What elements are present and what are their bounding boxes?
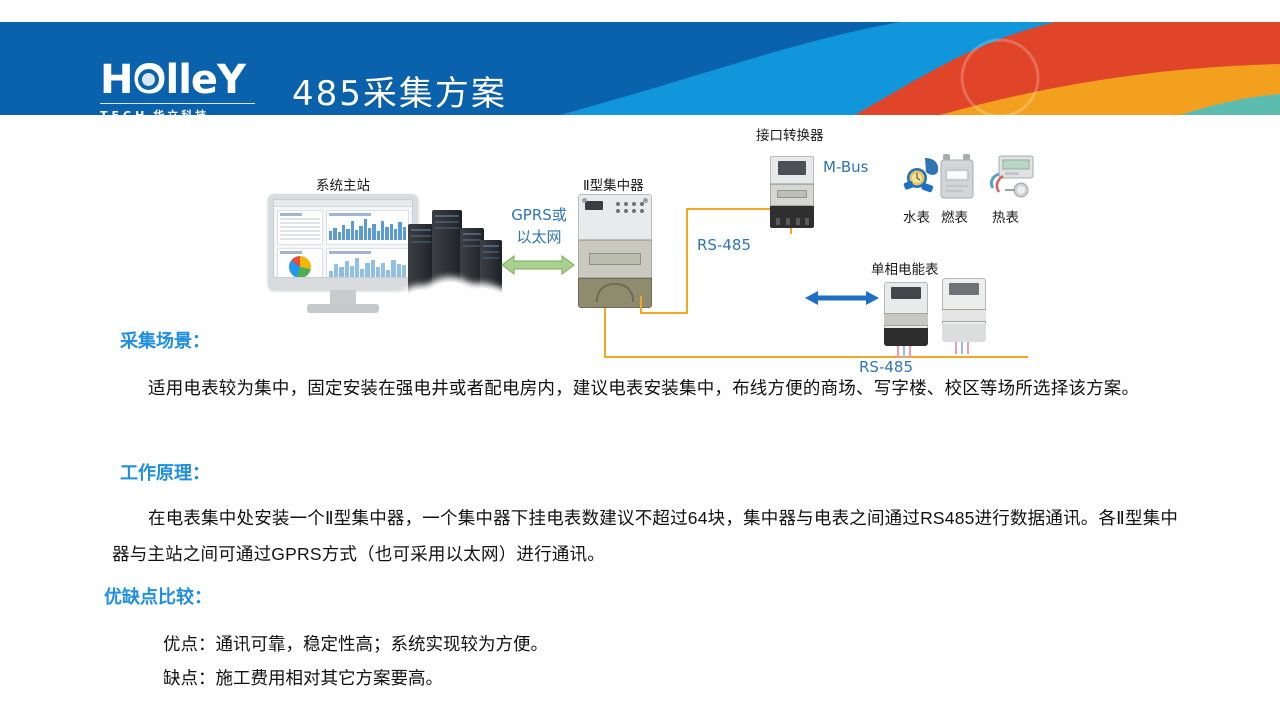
label-water-meter: 水表 bbox=[903, 206, 930, 226]
link-label-gprs: GPRS或 以太网 bbox=[504, 204, 574, 248]
section-heading-proscons: 优缺点比较： bbox=[104, 583, 212, 609]
logo-sub-cn: 华立科技 bbox=[153, 107, 209, 115]
link-label-rs485-upper: RS-485 bbox=[697, 236, 751, 254]
converter-lcd bbox=[777, 190, 807, 198]
label-gas-meter: 燃表 bbox=[941, 206, 968, 226]
gprs-line-1: GPRS或 bbox=[511, 206, 567, 224]
master-station-monitor:  bbox=[268, 194, 418, 316]
wire-segment bbox=[640, 312, 688, 314]
meter-label-band bbox=[884, 313, 928, 326]
heat-meter-icon bbox=[985, 152, 1037, 202]
screen-titlebar bbox=[274, 200, 412, 207]
meter-label-band bbox=[942, 309, 986, 322]
gprs-double-arrow-icon bbox=[500, 252, 576, 278]
dashboard-card-bars-1 bbox=[326, 210, 409, 245]
label-heat-meter: 热表 bbox=[992, 206, 1019, 226]
pros-line: 优点：通讯可靠，稳定性高；系统实现较为方便。 bbox=[163, 628, 548, 660]
wire-segment bbox=[640, 296, 642, 314]
dashboard-card-pie bbox=[277, 248, 323, 278]
mini-table bbox=[280, 218, 320, 240]
screw-icon bbox=[643, 198, 648, 203]
logo-sub-en: TECH bbox=[100, 109, 148, 116]
converter-top-panel bbox=[770, 156, 814, 184]
concentrator-top-panel bbox=[578, 194, 652, 240]
label-concentrator: Ⅱ型集中器 bbox=[583, 174, 644, 194]
link-label-mbus: M-Bus bbox=[823, 158, 868, 176]
wire-segment bbox=[604, 308, 606, 358]
pie-chart bbox=[289, 256, 311, 278]
meter-wires bbox=[953, 342, 975, 354]
bar-chart-1 bbox=[329, 218, 406, 240]
apple-logo-icon:  bbox=[340, 268, 347, 276]
converter-display bbox=[778, 161, 806, 175]
card-header-bar bbox=[329, 251, 371, 254]
wire-segment bbox=[604, 356, 1028, 358]
card-header-bar bbox=[280, 251, 302, 254]
cons-line: 缺点：施工费用相对其它方案要高。 bbox=[163, 662, 443, 694]
monitor-bezel:  bbox=[268, 194, 418, 290]
concentrator-indicator-leds bbox=[616, 202, 645, 213]
gprs-line-2: 以太网 bbox=[516, 228, 561, 246]
meter-display bbox=[891, 287, 921, 299]
dashboard-card-table bbox=[277, 210, 323, 245]
meter-display bbox=[949, 283, 979, 295]
slide-root: HOlleY TECH 华立科技 485采集方案 系统主站 Ⅱ型集中器 接口转换… bbox=[0, 0, 1280, 720]
paragraph-text: 在电表集中处安装一个Ⅱ型集中器，一个集中器下挂电表数建议不超过64块，集中器与电… bbox=[112, 508, 1178, 564]
page-title: 485采集方案 bbox=[292, 66, 507, 115]
concentrator-display bbox=[585, 201, 603, 210]
monitor-screen:  bbox=[273, 199, 413, 278]
meter-body bbox=[884, 282, 928, 346]
mbus-double-arrow-icon bbox=[805, 290, 879, 306]
monitor-base bbox=[307, 304, 379, 313]
cloud-graphic bbox=[400, 276, 520, 316]
meter-terminal-cover bbox=[884, 328, 928, 346]
logo-wordmark: HOlleY bbox=[100, 60, 255, 100]
wire-segment bbox=[686, 208, 688, 312]
concentrator-meter-panel bbox=[578, 240, 652, 278]
label-interface-converter: 接口转换器 bbox=[756, 124, 824, 144]
label-single-phase-meter: 单相电能表 bbox=[871, 258, 939, 278]
company-logo: HOlleY TECH 华立科技 bbox=[100, 60, 255, 115]
meter-wires bbox=[895, 346, 917, 358]
section-heading-scenario: 采集场景： bbox=[120, 327, 210, 353]
paragraph-text: 适用电表较为集中，固定安装在强电井或者配电房内，建议电表安装集中，布线方便的商场… bbox=[148, 378, 1139, 398]
logo-ring-icon bbox=[135, 66, 162, 93]
label-master-station: 系统主站 bbox=[316, 174, 370, 194]
section-heading-principle: 工作原理： bbox=[120, 459, 210, 485]
meter-body bbox=[942, 278, 986, 342]
logo-subtitle: TECH 华立科技 bbox=[100, 103, 255, 115]
meter-terminal-cover bbox=[942, 324, 986, 342]
single-phase-meter-light bbox=[942, 278, 986, 342]
card-header-bar bbox=[329, 213, 371, 216]
interface-converter-device bbox=[770, 156, 814, 234]
section-paragraph-principle: 在电表集中处安装一个Ⅱ型集中器，一个集中器下挂电表数建议不超过64块，集中器与电… bbox=[112, 500, 1182, 572]
card-header-bar bbox=[280, 213, 302, 216]
screw-icon bbox=[582, 198, 587, 203]
single-phase-meter-dark bbox=[884, 282, 928, 346]
concentrator-lcd bbox=[589, 253, 641, 265]
dashboard-card-bars-2 bbox=[326, 248, 409, 278]
gas-meter-icon bbox=[937, 152, 977, 202]
section-paragraph-scenario: 适用电表较为集中，固定安装在强电井或者配电房内，建议电表安装集中，布线方便的商场… bbox=[112, 370, 1172, 406]
converter-mid-panel bbox=[770, 184, 814, 206]
converter-terminal-block bbox=[770, 206, 814, 228]
slide-header: HOlleY TECH 华立科技 485采集方案 bbox=[0, 22, 1280, 115]
